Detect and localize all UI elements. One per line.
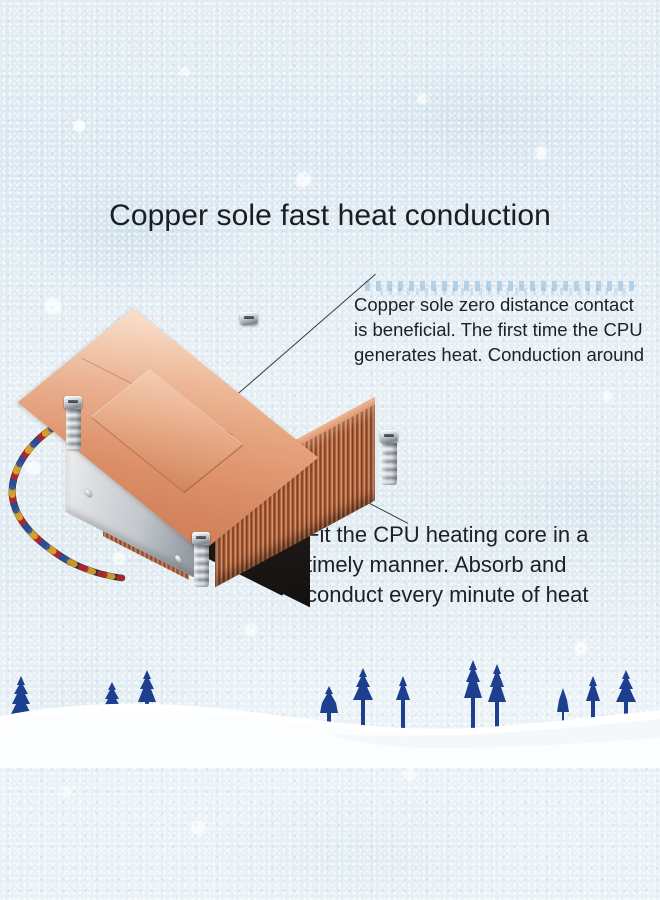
screw-slot-icon	[68, 400, 78, 403]
screw-slot-icon	[244, 316, 254, 319]
mounting-screw-top	[238, 312, 260, 332]
product-image-canvas: Copper sole fast heat conduction Copper …	[0, 0, 660, 900]
cpu-heatsink-product	[10, 300, 410, 610]
snow-drift-scene	[0, 648, 660, 768]
screw-slot-icon	[196, 536, 206, 539]
snow-drift	[0, 676, 660, 768]
screw-spring-icon	[194, 543, 209, 587]
screw-spring-icon	[66, 407, 81, 451]
bracket-rivet	[85, 488, 92, 499]
bracket-rivet	[175, 554, 182, 565]
screw-slot-icon	[384, 434, 394, 437]
mounting-screw-bottom	[190, 532, 212, 552]
screw-spring-icon	[382, 441, 397, 485]
mounting-screw-right	[378, 430, 400, 450]
page-title: Copper sole fast heat conduction	[0, 199, 660, 233]
mounting-screw-left	[62, 396, 84, 416]
